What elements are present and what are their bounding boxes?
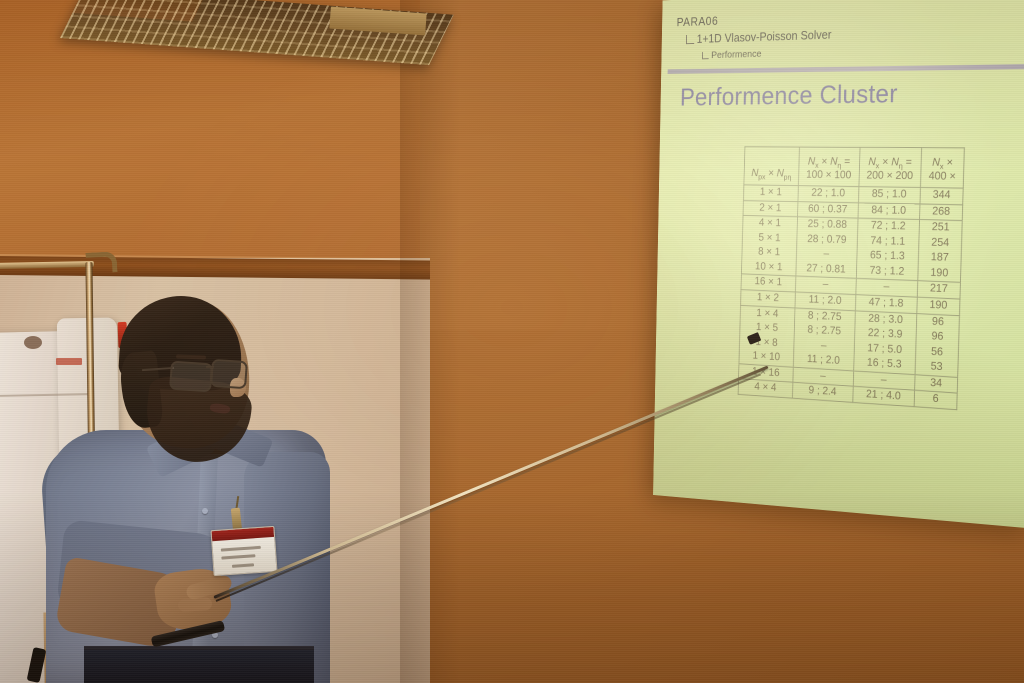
presentation-photo: PARA06 1+1D Vlasov-Poisson Solver Perfor… xyxy=(0,0,1024,683)
shirt-button xyxy=(202,508,208,514)
badge-stripe xyxy=(212,527,275,541)
trousers xyxy=(84,650,314,683)
badge-text-line xyxy=(232,563,254,567)
presenter xyxy=(0,0,1024,683)
glasses-lens-right xyxy=(210,359,248,389)
badge-text-line xyxy=(221,546,261,551)
badge-text-line xyxy=(221,554,255,559)
name-badge xyxy=(210,526,277,576)
glasses-bridge xyxy=(206,366,214,368)
